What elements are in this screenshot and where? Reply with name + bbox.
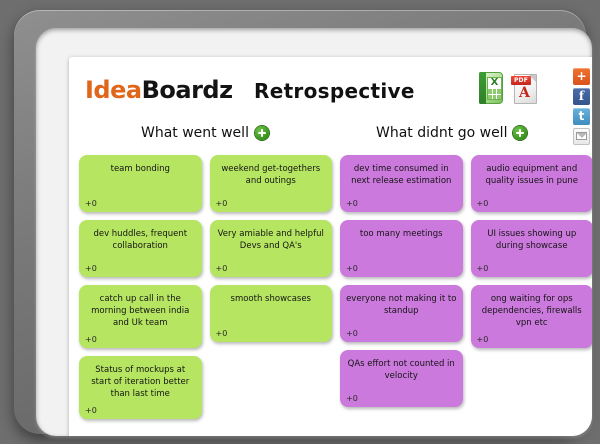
- logo-text-idea: Idea: [85, 76, 142, 104]
- card-text: too many meetings: [346, 228, 457, 258]
- card[interactable]: dev time consumed in next release estima…: [340, 155, 463, 212]
- card-votes[interactable]: +0: [85, 199, 196, 208]
- export-icon-group: X PDF A: [476, 71, 541, 105]
- card[interactable]: smooth showcases +0: [210, 285, 333, 342]
- card[interactable]: too many meetings +0: [340, 220, 463, 277]
- card[interactable]: Status of mockups at start of iteration …: [79, 356, 202, 419]
- facebook-share-icon[interactable]: f: [573, 88, 590, 105]
- card-votes[interactable]: +0: [346, 264, 457, 273]
- card-text: smooth showcases: [216, 293, 327, 323]
- card-votes[interactable]: +0: [477, 199, 588, 208]
- device-frame-inner: IdeaBoardz Retrospective X: [36, 28, 592, 436]
- board-columns: team bonding +0 dev huddles, frequent co…: [69, 155, 592, 419]
- card-text: team bonding: [85, 163, 196, 193]
- logo-text-boardz: Boardz: [142, 76, 233, 104]
- card-votes[interactable]: +0: [216, 264, 327, 273]
- section-heading-went-well: What went well: [141, 125, 269, 141]
- device-frame-outer: IdeaBoardz Retrospective X: [14, 10, 586, 434]
- pdf-icon-letter: A: [519, 86, 530, 100]
- column-went-well-1: team bonding +0 dev huddles, frequent co…: [79, 155, 202, 419]
- card-votes[interactable]: +0: [85, 264, 196, 273]
- card-text: ong waiting for ops dependencies, firewa…: [477, 293, 588, 329]
- column-didnt-go-well-1: dev time consumed in next release estima…: [340, 155, 463, 419]
- excel-icon-spine: [479, 72, 486, 104]
- section-heading-went-well-label: What went well: [141, 125, 249, 141]
- card-votes[interactable]: +0: [216, 329, 327, 338]
- card-text: dev huddles, frequent collaboration: [85, 228, 196, 258]
- card-votes[interactable]: +0: [477, 335, 588, 344]
- column-didnt-go-well-2: audio equipment and quality issues in pu…: [471, 155, 593, 419]
- card-votes[interactable]: +0: [85, 335, 196, 344]
- add-card-icon-didnt-go-well[interactable]: [513, 126, 527, 140]
- ideaboardz-logo[interactable]: IdeaBoardz: [85, 76, 233, 104]
- card-text: weekend get-togethers and outings: [216, 163, 327, 193]
- section-heading-didnt-go-well: What didnt go well: [376, 125, 527, 141]
- card-votes[interactable]: +0: [477, 264, 588, 273]
- card-text: QAs effort not counted in velocity: [346, 358, 457, 388]
- card[interactable]: team bonding +0: [79, 155, 202, 212]
- card-votes[interactable]: +0: [216, 199, 327, 208]
- card-text: dev time consumed in next release estima…: [346, 163, 457, 193]
- section-heading-didnt-go-well-label: What didnt go well: [376, 125, 507, 141]
- card-text: UI issues showing up during showcase: [477, 228, 588, 258]
- card[interactable]: QAs effort not counted in velocity +0: [340, 350, 463, 407]
- card[interactable]: dev huddles, frequent collaboration +0: [79, 220, 202, 277]
- screenshot-root: IdeaBoardz Retrospective X: [0, 0, 600, 444]
- ideaboardz-page: IdeaBoardz Retrospective X: [69, 57, 592, 436]
- card[interactable]: ong waiting for ops dependencies, firewa…: [471, 285, 593, 348]
- excel-icon-cells: [488, 89, 501, 99]
- add-card-icon-went-well[interactable]: [255, 126, 269, 140]
- card[interactable]: catch up call in the morning between ind…: [79, 285, 202, 348]
- card[interactable]: Very amiable and helpful Devs and QA's +…: [210, 220, 333, 277]
- card[interactable]: weekend get-togethers and outings +0: [210, 155, 333, 212]
- page-header: IdeaBoardz Retrospective X: [69, 57, 592, 125]
- excel-icon-letter: X: [487, 77, 502, 88]
- card-text: audio equipment and quality issues in pu…: [477, 163, 588, 193]
- share-plus-icon[interactable]: +: [573, 68, 590, 85]
- card-votes[interactable]: +0: [346, 394, 457, 403]
- card-text: Status of mockups at start of iteration …: [85, 364, 196, 400]
- excel-export-icon[interactable]: X: [476, 71, 506, 105]
- card-votes[interactable]: +0: [346, 329, 457, 338]
- pdf-icon-banner: PDF: [511, 76, 531, 85]
- board-title: Retrospective: [254, 79, 415, 103]
- card[interactable]: audio equipment and quality issues in pu…: [471, 155, 593, 212]
- card-text: everyone not making it to standup: [346, 293, 457, 323]
- card-votes[interactable]: +0: [346, 199, 457, 208]
- section-headings: What went well What didnt go well: [69, 125, 592, 155]
- card-votes[interactable]: +0: [85, 406, 196, 415]
- card-text: catch up call in the morning between ind…: [85, 293, 196, 329]
- pdf-export-icon[interactable]: PDF A: [511, 71, 541, 105]
- twitter-share-icon[interactable]: t: [573, 108, 590, 125]
- column-went-well-2: weekend get-togethers and outings +0 Ver…: [210, 155, 333, 419]
- card[interactable]: UI issues showing up during showcase +0: [471, 220, 593, 277]
- card[interactable]: everyone not making it to standup +0: [340, 285, 463, 342]
- card-text: Very amiable and helpful Devs and QA's: [216, 228, 327, 258]
